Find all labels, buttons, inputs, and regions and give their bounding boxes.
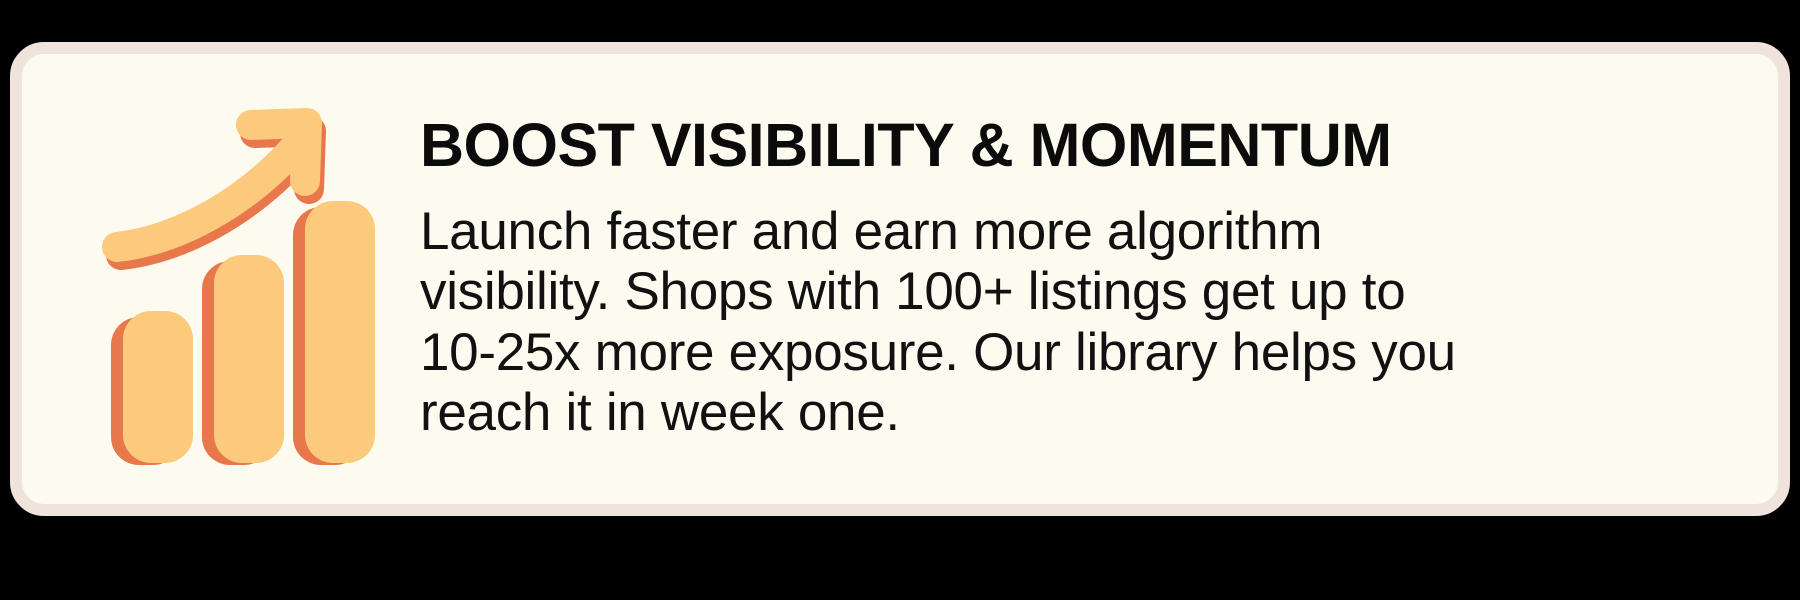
promo-body-text: Launch faster and earn more algorithm vi… [420, 202, 1490, 444]
promo-banner-screen: BOOST VISIBILITY & MOMENTUM Launch faste… [0, 0, 1800, 600]
growth-bar-chart-arrow-icon [95, 89, 395, 469]
promo-title: BOOST VISIBILITY & MOMENTUM [420, 115, 1738, 176]
promo-card: BOOST VISIBILITY & MOMENTUM Launch faste… [10, 42, 1790, 516]
promo-text-block: BOOST VISIBILITY & MOMENTUM Launch faste… [410, 115, 1778, 444]
icon-container [80, 79, 410, 479]
